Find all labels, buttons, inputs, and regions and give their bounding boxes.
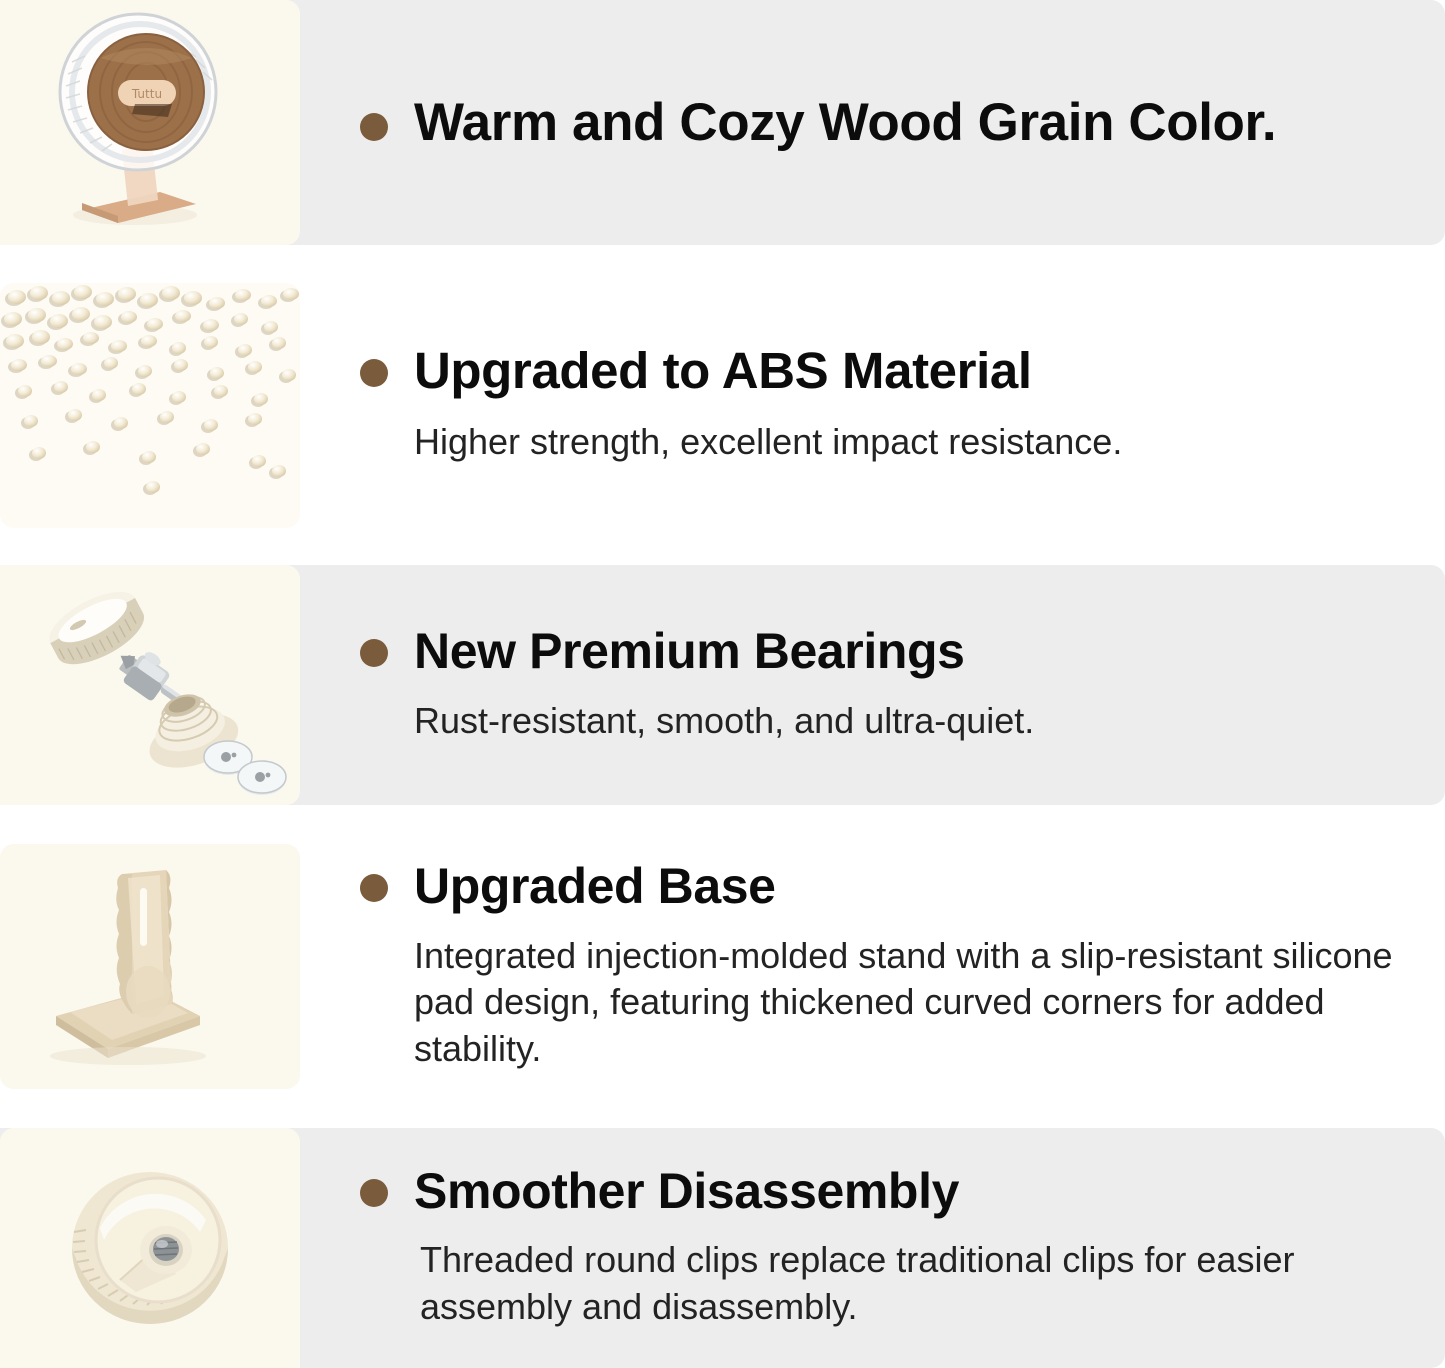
feature-title: Smoother Disassembly	[414, 1165, 959, 1218]
feature-description: Threaded round clips replace traditional…	[420, 1237, 1320, 1331]
feature-title: Warm and Cozy Wood Grain Color.	[414, 95, 1276, 151]
feature-headline: Upgraded Base	[360, 860, 1427, 913]
feature-headline: Upgraded to ABS Material	[360, 344, 1427, 398]
feature-row-smoother-disassembly: Smoother Disassembly Threaded round clip…	[0, 1128, 1445, 1368]
feature-headline: New Premium Bearings	[360, 625, 1427, 678]
abs-plastic-pellets-photo	[0, 283, 300, 528]
feature-title: Upgraded Base	[414, 860, 776, 913]
feature-description: Integrated injection-molded stand with a…	[414, 933, 1424, 1073]
bullet-icon	[360, 1179, 388, 1207]
bullet-icon	[360, 874, 388, 902]
feature-text-block: Warm and Cozy Wood Grain Color.	[300, 95, 1445, 151]
bearing-exploded-parts-photo	[0, 565, 300, 805]
bullet-icon	[360, 639, 388, 667]
bullet-icon	[360, 359, 388, 387]
feature-title: Upgraded to ABS Material	[414, 344, 1032, 398]
feature-row-wood-grain-color: Tuttu Warm and Cozy Wood Grain Color.	[0, 0, 1445, 245]
feature-list-page: Tuttu Warm and Cozy Wood Grain Color.	[0, 0, 1445, 1368]
feature-title: New Premium Bearings	[414, 625, 965, 678]
feature-description: Higher strength, excellent impact resist…	[414, 419, 1427, 466]
feature-row-abs-material: Upgraded to ABS Material Higher strength…	[0, 245, 1445, 565]
injection-molded-stand-photo	[0, 844, 300, 1089]
svg-text:Tuttu: Tuttu	[131, 87, 162, 101]
feature-headline: Warm and Cozy Wood Grain Color.	[360, 95, 1427, 151]
feature-headline: Smoother Disassembly	[360, 1165, 1427, 1218]
feature-row-premium-bearings: New Premium Bearings Rust-resistant, smo…	[0, 565, 1445, 805]
feature-text-block: Upgraded to ABS Material Higher strength…	[300, 344, 1445, 466]
hamster-wheel-wood-grain-photo: Tuttu	[0, 0, 300, 245]
feature-text-block: New Premium Bearings Rust-resistant, smo…	[300, 625, 1445, 744]
feature-row-upgraded-base: Upgraded Base Integrated injection-molde…	[0, 805, 1445, 1128]
feature-description: Rust-resistant, smooth, and ultra-quiet.	[414, 698, 1427, 745]
threaded-round-clip-hub-photo	[0, 1128, 300, 1368]
feature-text-block: Upgraded Base Integrated injection-molde…	[300, 860, 1445, 1073]
bullet-icon	[360, 113, 388, 141]
feature-text-block: Smoother Disassembly Threaded round clip…	[300, 1165, 1445, 1331]
